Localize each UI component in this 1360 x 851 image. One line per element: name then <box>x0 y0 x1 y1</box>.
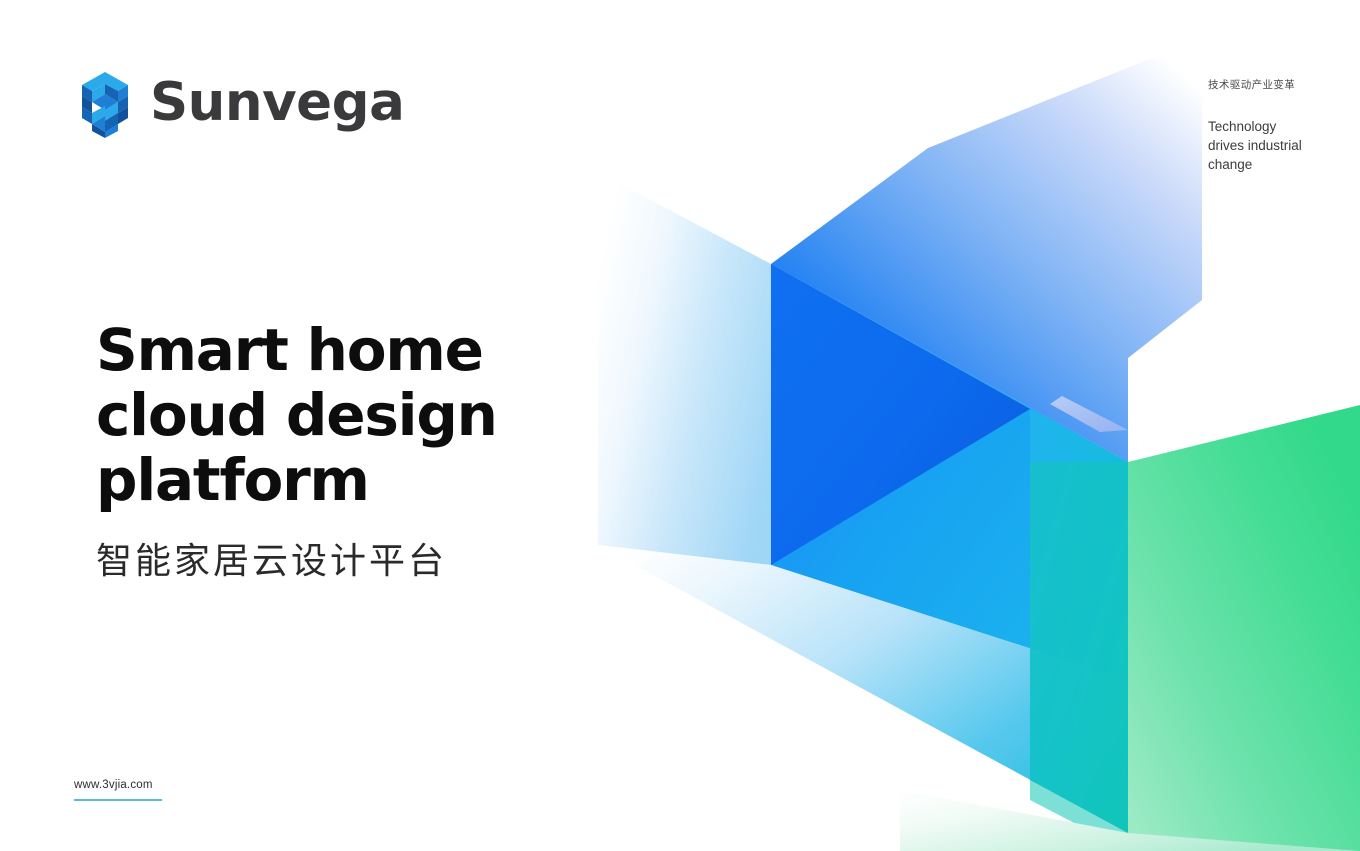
artwork-plane-cyan-right <box>1030 409 1128 833</box>
tagline-english-line1: Technology <box>1208 117 1348 136</box>
artwork-plane-green-overlap <box>1030 462 1128 851</box>
artwork-plane-mid-blue <box>771 264 1128 680</box>
slide-root: Sunvega 技术驱动产业变革 Technology drives indus… <box>0 0 1360 851</box>
page-title: Smart home cloud design platform <box>96 318 736 513</box>
page-title-line2: cloud design platform <box>96 383 736 513</box>
tagline-block: 技术驱动产业变革 Technology drives industrial ch… <box>1208 78 1348 174</box>
artwork-plane-green <box>1128 405 1360 851</box>
page-subtitle: 智能家居云设计平台 <box>96 539 736 582</box>
footer-block: www.3vjia.com <box>74 778 162 801</box>
brand-name: Sunvega <box>150 76 404 129</box>
page-title-line1: Smart home <box>96 316 483 384</box>
tagline-english-line2: drives industrial <box>1208 136 1348 155</box>
tagline-chinese: 技术驱动产业变革 <box>1208 78 1348 93</box>
artwork-sliver-green-bottom <box>900 790 1360 851</box>
brand-logo[interactable]: Sunvega <box>74 66 404 138</box>
artwork-plane-top-right <box>771 38 1202 462</box>
tagline-english-line3: change <box>1208 155 1348 174</box>
headline-block: Smart home cloud design platform 智能家居云设计… <box>96 318 736 582</box>
artwork-triangle-dark-blue <box>771 264 1030 565</box>
artwork-wing-lower-left <box>598 545 1128 833</box>
sunvega-isometric-cube-logo-icon <box>74 66 136 138</box>
artwork-wedge-lavender <box>1050 396 1128 432</box>
website-url[interactable]: www.3vjia.com <box>74 778 162 793</box>
footer-underline-rule <box>74 799 162 802</box>
tagline-english: Technology drives industrial change <box>1208 117 1348 174</box>
